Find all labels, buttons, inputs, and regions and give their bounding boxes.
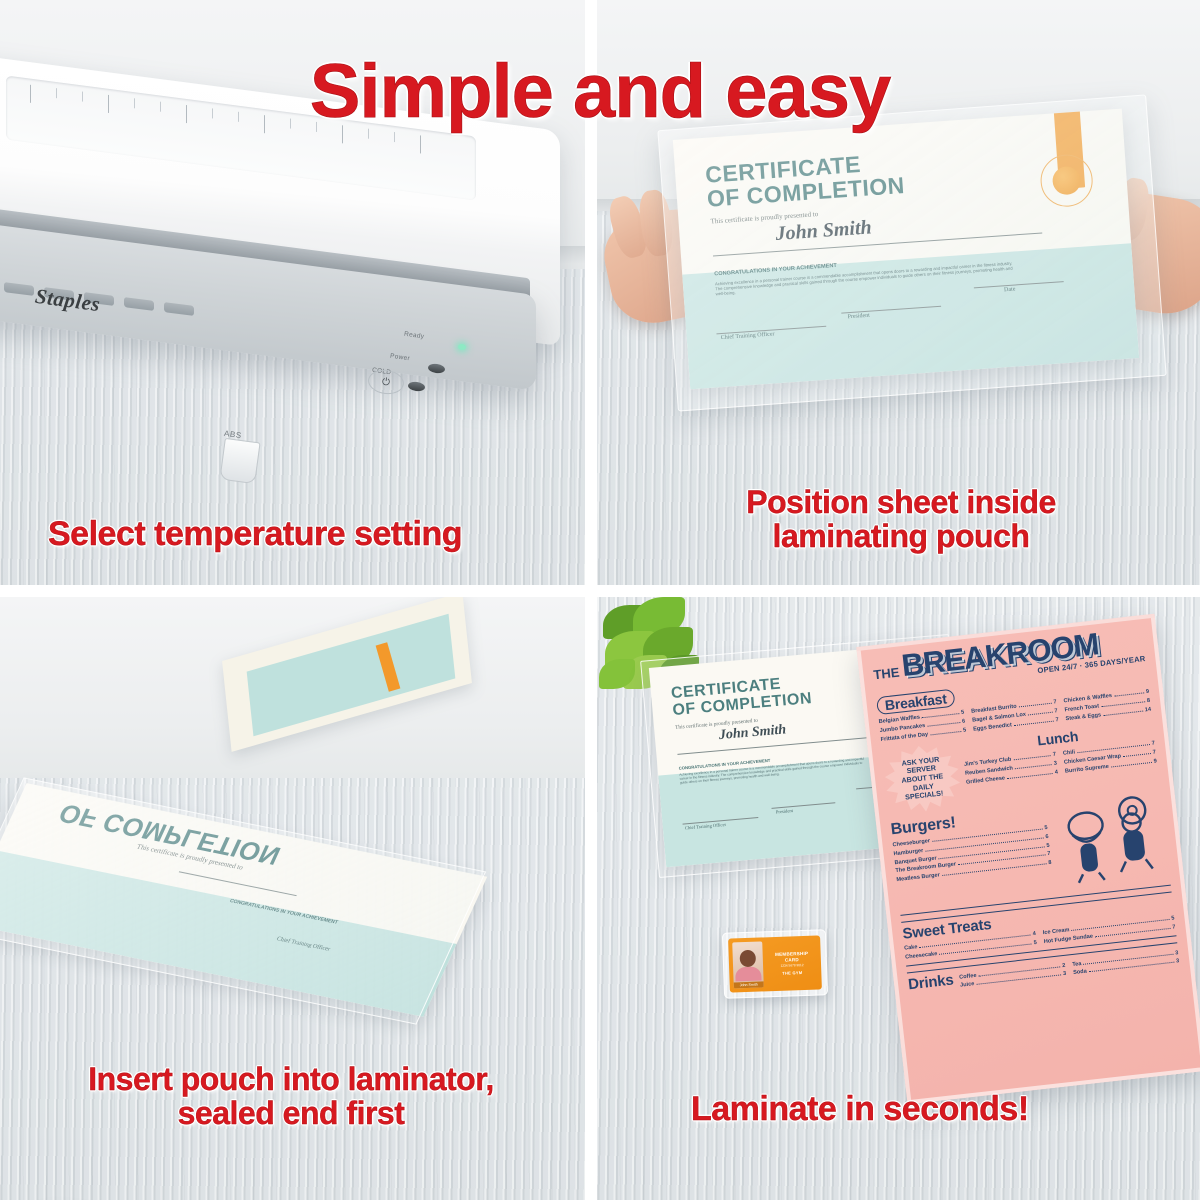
menu-section-lunch-heading: Lunch <box>1036 728 1079 748</box>
panel-insert-pouch: Staples ABS OF COMPLETION This certifica… <box>0 597 585 1200</box>
card-title-line2: CARD <box>785 957 799 963</box>
menu-the-label: THE <box>873 665 901 683</box>
panel-separator-horizontal <box>0 585 1200 597</box>
daily-specials-badge: ASK YOUR SERVER ABOUT THE DAILY SPECIALS… <box>882 742 963 816</box>
card-photo: John Smith <box>732 941 764 988</box>
breakroom-menu[interactable]: THE BREAKROOM OPEN 24/7 · 365 DAYS/YEAR … <box>856 614 1200 1105</box>
membership-card[interactable]: John Smith MEMBERSHIP CARD 1234 5678 901… <box>722 929 828 999</box>
abs-release-lever[interactable] <box>219 438 260 484</box>
card-holder-name: John Smith <box>734 981 764 988</box>
caption-select-temperature: Select temperature setting <box>48 516 462 552</box>
panel-laminate-seconds: CERTIFICATE OF COMPLETION This certifica… <box>597 597 1200 1200</box>
product-infographic: Staples Ready Power COLD ⏻ ABS Select te… <box>0 0 1200 1200</box>
page-title: Simple and easy <box>0 48 1200 135</box>
cold-setting-button[interactable] <box>407 381 425 392</box>
caption-laminate-seconds: Laminate in seconds! <box>691 1091 1029 1127</box>
card-gym-logo: THE GYM <box>782 970 802 976</box>
menu-mascot-illustrations <box>1049 791 1170 894</box>
caption-position-sheet: Position sheet inside laminating pouch <box>701 486 1101 554</box>
burger-and-donut-mascot-icon <box>1049 791 1170 889</box>
caption-insert-pouch: Insert pouch into laminator, sealed end … <box>36 1063 546 1131</box>
menu-section-drinks-heading: Drinks <box>907 971 954 993</box>
laminating-pouch[interactable] <box>657 94 1166 411</box>
card-number: 1234 5678 9012 <box>780 963 803 968</box>
laminator-device: Staples Ready Power COLD ⏻ ABS <box>0 92 570 422</box>
panel-separator-vertical <box>585 0 597 1200</box>
